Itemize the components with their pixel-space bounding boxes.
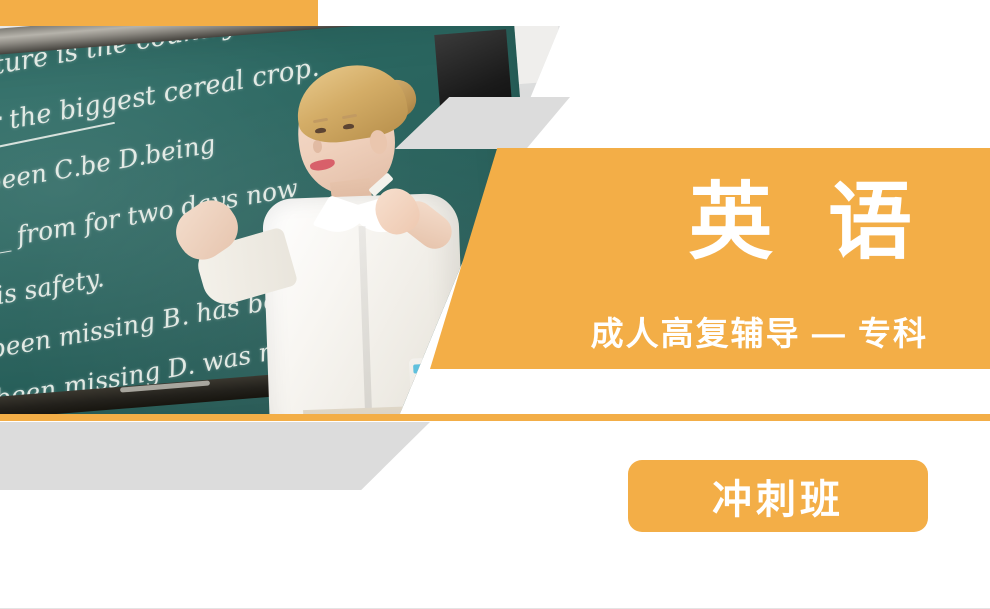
page-title: 英 语 <box>689 180 928 264</box>
grey-lower-band <box>0 422 430 490</box>
top-accent-strip <box>0 0 318 26</box>
page-subtitle: 成人高复辅导 — 专科 <box>591 314 928 354</box>
chalk-line-5: about his safety. <box>0 263 106 327</box>
divider-rule <box>0 414 990 421</box>
pen-green <box>416 382 425 391</box>
chalk-line-3: A. is B.been C.be D.being <box>0 129 217 212</box>
sprint-class-button[interactable]: 冲刺班 <box>628 460 928 532</box>
pen-red <box>426 389 435 398</box>
pen-orange <box>424 370 433 379</box>
course-banner: agriculture is the country's chief sourc… <box>0 0 990 609</box>
pen-blue <box>413 364 422 373</box>
chalk-underline <box>0 122 115 171</box>
